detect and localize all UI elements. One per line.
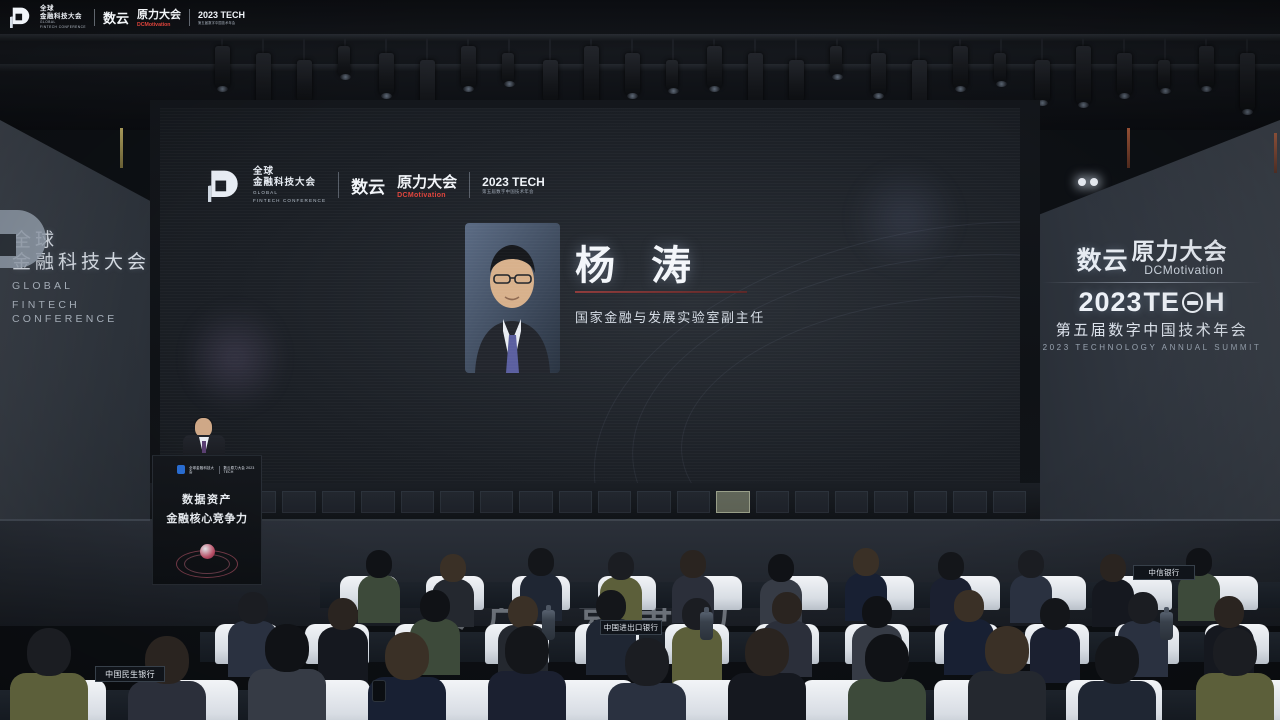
wall-panel-cell bbox=[914, 491, 947, 513]
audience-member bbox=[848, 634, 926, 720]
speaker-portrait bbox=[465, 223, 560, 373]
light-fixture bbox=[215, 46, 230, 88]
podium-title-line1: 数据资产 bbox=[153, 491, 261, 507]
wall-panel-cell bbox=[756, 491, 789, 513]
wall-panel-cell bbox=[282, 491, 315, 513]
audience-head bbox=[505, 626, 549, 674]
audience-member bbox=[608, 638, 686, 720]
podium-logo-text-b: 数云原力大会 2023 TECH bbox=[223, 466, 261, 474]
screen-logo-cn1: 全球 bbox=[253, 166, 326, 177]
ceiling-lamp bbox=[1078, 178, 1086, 186]
right-wall-branding: 数云 原力大会 DCMotivation 2023 TE H 第五届数字中国技术… bbox=[1032, 232, 1272, 352]
audience-head bbox=[1018, 550, 1044, 578]
screen-speaker-name: 杨涛 bbox=[575, 233, 727, 291]
light-fixture bbox=[871, 53, 886, 95]
right-wall-tech-a: TE bbox=[1144, 287, 1181, 318]
light-fixture bbox=[502, 53, 514, 83]
audience-head bbox=[1214, 596, 1244, 628]
audience-head bbox=[27, 628, 71, 676]
light-fixture bbox=[1117, 53, 1132, 95]
audience-torso bbox=[128, 681, 206, 720]
audience-member bbox=[968, 626, 1046, 720]
ceiling-lamp bbox=[1090, 178, 1098, 186]
light-hanger bbox=[549, 38, 551, 60]
light-fixture bbox=[625, 53, 640, 95]
screen-logo-year: 2023 TECH bbox=[482, 175, 545, 189]
screen-logo-yuanli: 原力大会 bbox=[397, 171, 457, 192]
light-hanger bbox=[426, 38, 428, 60]
audience-head bbox=[938, 552, 964, 580]
light-hanger bbox=[1041, 38, 1043, 60]
audience-head bbox=[328, 598, 358, 630]
screen-logo-lockup: 全球 金融科技大会 GLOBAL FINTECH CONFERENCE 数云 原… bbox=[208, 166, 545, 204]
watermark-cn1: 全球 bbox=[40, 5, 86, 13]
podium-logo-text-a: 全球金融科技大会 bbox=[189, 466, 215, 474]
light-fixture bbox=[297, 60, 312, 102]
audience-head bbox=[1100, 554, 1126, 582]
light-hanger bbox=[508, 38, 510, 54]
audience-torso bbox=[248, 669, 326, 720]
audience-member bbox=[368, 632, 446, 720]
right-wall-tech-lockup: 2023 TE H bbox=[1032, 287, 1272, 318]
podium-logo-lockup: 全球金融科技大会 数云原力大会 2023 TECH bbox=[177, 465, 261, 474]
right-wall-cn-summit: 第五届数字中国技术年会 bbox=[1032, 319, 1272, 340]
watermark-divider bbox=[189, 9, 190, 26]
audience-head bbox=[238, 592, 268, 624]
led-screen: 全球 金融科技大会 GLOBAL FINTECH CONFERENCE 数云 原… bbox=[160, 108, 1020, 483]
audience-head bbox=[528, 548, 554, 576]
light-fixture bbox=[953, 46, 968, 88]
screen-logo-en2: FINTECH CONFERENCE bbox=[253, 198, 326, 204]
watermark-tiny: 第五届数字中国技术年会 bbox=[198, 20, 245, 25]
light-hanger bbox=[262, 38, 264, 54]
audience-head bbox=[745, 628, 789, 676]
audience-head bbox=[862, 596, 892, 628]
light-fixture bbox=[707, 46, 722, 88]
light-fixture bbox=[338, 46, 350, 76]
light-hanger bbox=[1246, 38, 1248, 54]
light-fixture bbox=[666, 60, 678, 90]
screen-name-rule bbox=[575, 291, 747, 293]
wall-panel-cell bbox=[953, 491, 986, 513]
at-circle-icon bbox=[1179, 289, 1206, 316]
light-hanger bbox=[877, 38, 879, 54]
light-fixture bbox=[379, 53, 394, 95]
light-fixture bbox=[461, 46, 476, 88]
light-hanger bbox=[1123, 38, 1125, 54]
audience-torso bbox=[10, 673, 88, 720]
watermark-shuyun: 数云 bbox=[103, 8, 129, 27]
light-fixture bbox=[1199, 46, 1214, 88]
audience-torso bbox=[1196, 673, 1274, 720]
audience-head bbox=[596, 590, 626, 622]
audience-head bbox=[385, 632, 429, 680]
light-hanger bbox=[1000, 38, 1002, 54]
table-placard: 中国民生银行 bbox=[95, 666, 165, 682]
gfc-mark-icon bbox=[208, 169, 241, 202]
light-fixture bbox=[1035, 60, 1050, 102]
light-fixture bbox=[1158, 60, 1170, 90]
light-fixture bbox=[584, 46, 599, 104]
phone-camera-icon bbox=[372, 680, 386, 702]
screen-speaker-title: 国家金融与发展实验室副主任 bbox=[575, 307, 765, 326]
audience-member bbox=[1196, 628, 1274, 720]
audience-member bbox=[10, 628, 88, 720]
audience-head bbox=[440, 554, 466, 582]
audience-torso bbox=[488, 671, 566, 720]
wall-panel-cell bbox=[637, 491, 670, 513]
wall-panel-cell bbox=[361, 491, 394, 513]
audience-head bbox=[420, 590, 450, 622]
gfc-mark-icon bbox=[0, 208, 48, 300]
screen-logo-shuyun: 数云 bbox=[351, 173, 385, 198]
audience-head bbox=[853, 548, 879, 576]
audience-head bbox=[865, 634, 909, 682]
right-wall-yuanli: 原力大会 bbox=[1132, 238, 1228, 264]
audience-member bbox=[1078, 636, 1156, 720]
watermark-divider bbox=[94, 9, 95, 26]
wall-panel-cell bbox=[795, 491, 828, 513]
screen-nebula bbox=[850, 163, 960, 273]
water-bottle bbox=[1160, 612, 1173, 640]
screen-logo-en1: GLOBAL bbox=[253, 190, 326, 196]
wall-accent-strip-right-far bbox=[1274, 133, 1277, 173]
audience-head bbox=[1095, 636, 1139, 684]
wall-panel-cell bbox=[519, 491, 552, 513]
light-hanger bbox=[385, 38, 387, 54]
audience-torso bbox=[1078, 681, 1156, 720]
light-fixture bbox=[994, 53, 1006, 83]
light-hanger bbox=[754, 38, 756, 54]
light-hanger bbox=[1164, 38, 1166, 60]
audience-torso bbox=[608, 683, 686, 720]
wall-panel-cell bbox=[598, 491, 631, 513]
wall-panel-cell bbox=[716, 491, 749, 513]
light-hanger bbox=[918, 38, 920, 60]
table-placard: 中国进出口银行 bbox=[600, 620, 662, 635]
light-fixture bbox=[1240, 53, 1255, 111]
right-wall-tech-year: 2023 bbox=[1078, 287, 1142, 318]
light-fixture bbox=[830, 46, 842, 76]
watermark-year: 2023 TECH bbox=[198, 10, 245, 20]
audience-head bbox=[265, 624, 309, 672]
audience-head bbox=[954, 590, 984, 622]
right-wall-shuyun: 数云 bbox=[1076, 241, 1128, 277]
audience-area: 中信银行中国进出口银行中国民生银行 bbox=[0, 520, 1280, 720]
screen-logo-tiny: 第五届数字中国技术年会 bbox=[482, 189, 545, 195]
light-fixture bbox=[543, 60, 558, 102]
wall-panel-cell bbox=[874, 491, 907, 513]
right-wall-tech-b: H bbox=[1205, 287, 1226, 318]
audience-torso bbox=[848, 679, 926, 720]
wall-panel-cell bbox=[559, 491, 592, 513]
right-wall-en-summit: 2023 TECHNOLOGY ANNUAL SUMMIT bbox=[1032, 343, 1272, 352]
audience-head bbox=[1213, 628, 1257, 676]
presenter-tie bbox=[202, 441, 206, 453]
light-fixture bbox=[789, 60, 804, 102]
wall-panel-cell bbox=[993, 491, 1026, 513]
truss-bar bbox=[0, 34, 1280, 41]
wall-accent-strip-left bbox=[120, 128, 123, 168]
audience-member bbox=[728, 628, 806, 720]
screen-logo-divider bbox=[469, 172, 470, 198]
watermark-cn2: 金融科技大会 bbox=[40, 13, 86, 21]
audience-torso bbox=[968, 671, 1046, 720]
audience-head bbox=[1128, 592, 1158, 624]
light-hanger bbox=[672, 38, 674, 60]
wall-panel-cell bbox=[322, 491, 355, 513]
wall-panel-cell bbox=[835, 491, 868, 513]
screen-logo-dcm: DCMotivation bbox=[397, 192, 457, 199]
table-placard: 中信银行 bbox=[1133, 565, 1195, 580]
wall-panel-cell bbox=[480, 491, 513, 513]
screen-nebula bbox=[190, 298, 280, 418]
screen-logo-cn2: 金融科技大会 bbox=[253, 177, 326, 188]
audience-member bbox=[488, 626, 566, 720]
watermark-yuanli: 原力大会 bbox=[137, 6, 181, 22]
right-wall-divider bbox=[1042, 282, 1262, 283]
watermark-dcm: DCMotivation bbox=[137, 22, 181, 28]
light-fixture bbox=[1076, 46, 1091, 104]
audience-head bbox=[608, 552, 634, 580]
audience-head bbox=[366, 550, 392, 578]
audience-head bbox=[985, 626, 1029, 674]
screen-logo-divider bbox=[338, 172, 339, 198]
gfc-mark-icon bbox=[10, 6, 32, 28]
audience-member bbox=[248, 624, 326, 720]
right-wall-dcmotivation: DCMotivation bbox=[1132, 263, 1228, 277]
audience-torso bbox=[728, 673, 806, 720]
back-wall-panel-band bbox=[150, 483, 1040, 521]
audience-head bbox=[768, 554, 794, 582]
broadcast-watermark: 全球 金融科技大会 GLOBAL FINTECH CONFERENCE 数云 原… bbox=[0, 0, 280, 34]
light-hanger bbox=[631, 38, 633, 54]
wall-panel-cell bbox=[401, 491, 434, 513]
watermark-en2: FINTECH CONFERENCE bbox=[40, 25, 86, 29]
audience-head bbox=[680, 550, 706, 578]
water-bottle bbox=[700, 612, 713, 640]
audience-head bbox=[772, 592, 802, 624]
stage-scene: 全球 金融科技大会 GLOBAL FINTECH CONFERENCE 数云 原… bbox=[0, 0, 1280, 720]
podium-logo-divider bbox=[219, 466, 220, 474]
wall-panel-cell bbox=[677, 491, 710, 513]
light-hanger bbox=[303, 38, 305, 60]
wall-panel-cell bbox=[440, 491, 473, 513]
wall-accent-strip-right bbox=[1127, 128, 1130, 168]
audience-head bbox=[625, 638, 669, 686]
audience-head bbox=[508, 596, 538, 628]
light-hanger bbox=[795, 38, 797, 60]
gfc-mark-icon bbox=[177, 465, 185, 474]
